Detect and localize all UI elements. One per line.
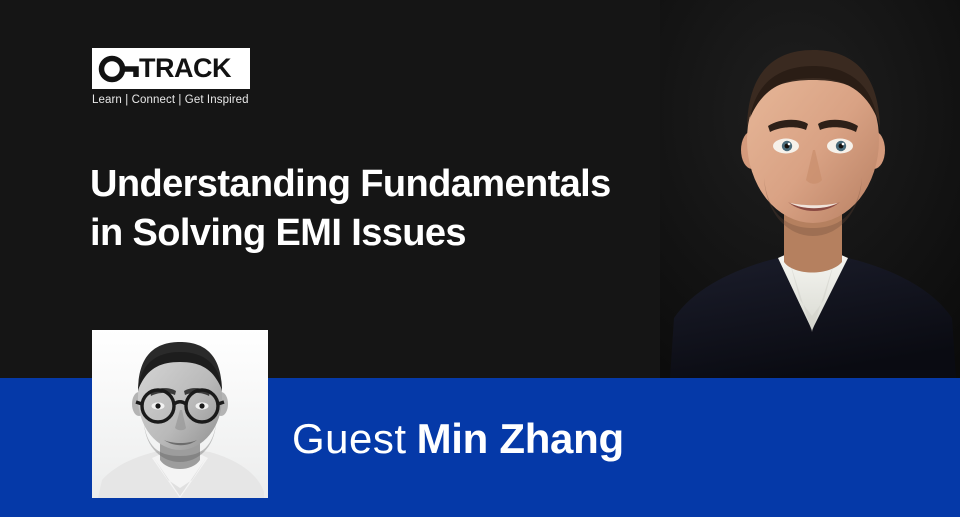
guest-name: Min Zhang: [417, 415, 624, 462]
podcast-episode-banner: TRACK Learn | Connect | Get Inspired Und…: [0, 0, 960, 517]
guest-portrait-svg: [92, 330, 268, 498]
title-line-2: in Solving EMI Issues: [90, 209, 710, 258]
page-title: Understanding Fundamentals in Solving EM…: [90, 160, 710, 257]
logo-wordmark: TRACK: [139, 55, 231, 82]
on-track-key-icon: [98, 55, 140, 83]
guest-label: Guest: [292, 415, 407, 462]
logo-box: TRACK: [92, 48, 250, 89]
guest-portrait-photo: [92, 330, 268, 498]
on-track-logo: TRACK Learn | Connect | Get Inspired: [92, 48, 252, 106]
logo-tagline: Learn | Connect | Get Inspired: [92, 94, 252, 106]
guest-name-line: GuestMin Zhang: [292, 418, 624, 460]
title-line-1: Understanding Fundamentals: [90, 160, 710, 209]
